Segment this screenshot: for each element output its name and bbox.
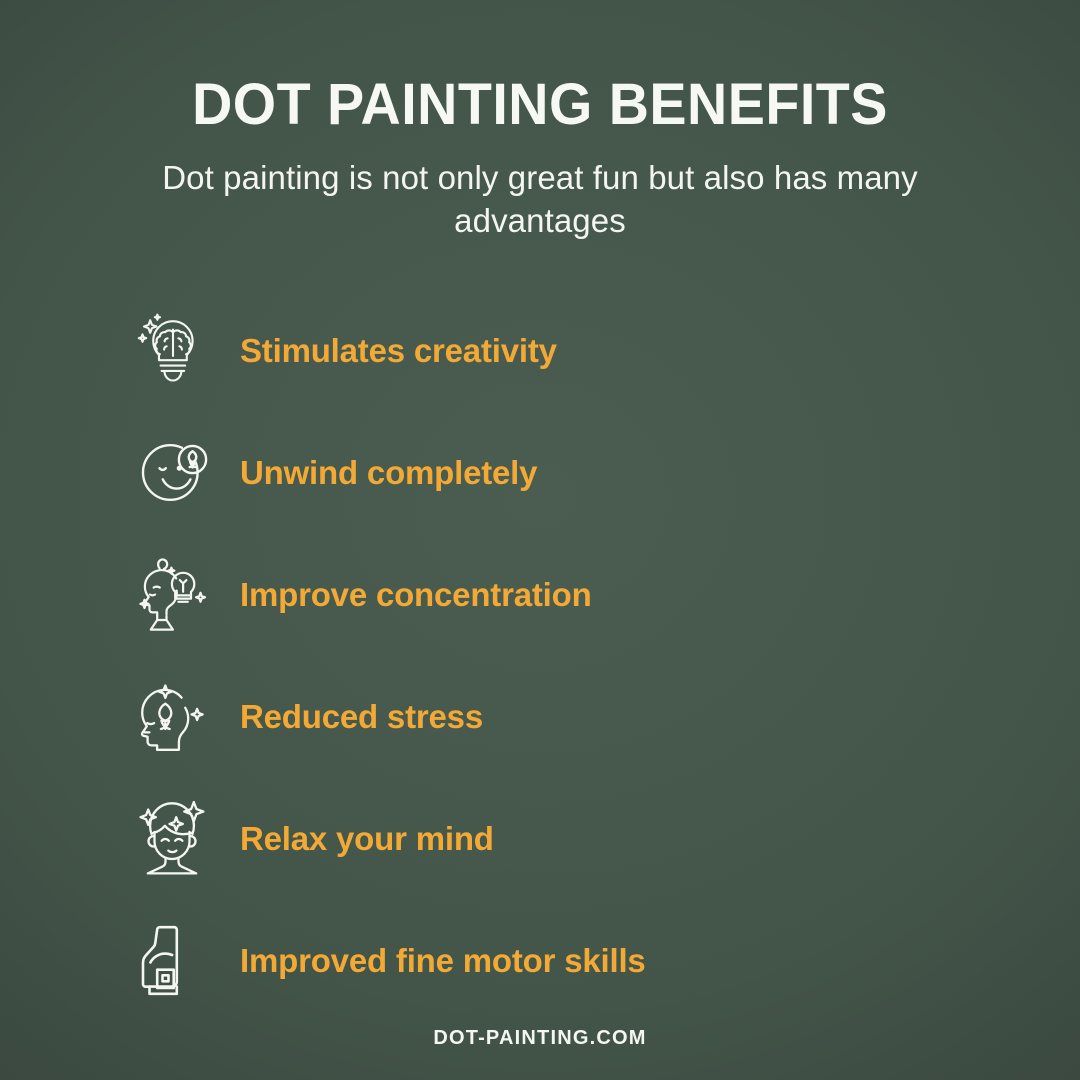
poster-footer: DOT-PAINTING.COM <box>0 1027 1080 1050</box>
website-url: DOT-PAINTING.COM <box>433 1027 646 1049</box>
list-item: Improved fine motor skills <box>136 900 646 1022</box>
benefit-label: Unwind completely <box>240 454 537 492</box>
lightbulb-brain-icon <box>136 311 212 391</box>
poster-header: DOT PAINTING BENEFITS Dot painting is no… <box>0 0 1080 242</box>
list-item: Improve concentration <box>136 534 592 656</box>
list-item: Unwind completely <box>136 412 537 534</box>
relaxed-face-stars-icon <box>136 799 212 879</box>
infographic-poster: DOT PAINTING BENEFITS Dot painting is no… <box>0 0 1080 1080</box>
smiley-flower-icon <box>136 433 212 513</box>
page-title: DOT PAINTING BENEFITS <box>22 74 1059 136</box>
benefit-label: Improved fine motor skills <box>240 942 646 980</box>
benefits-list: Stimulates creativity Unwind completely <box>0 290 1080 1022</box>
head-lotus-icon <box>136 677 212 757</box>
head-lightbulb-icon <box>136 555 212 635</box>
benefit-label: Reduced stress <box>240 698 483 736</box>
page-subtitle: Dot painting is not only great fun but a… <box>145 156 935 242</box>
list-item: Relax your mind <box>136 778 494 900</box>
list-item: Stimulates creativity <box>136 290 557 412</box>
benefit-label: Improve concentration <box>240 576 592 614</box>
benefit-label: Relax your mind <box>240 820 494 858</box>
list-item: Reduced stress <box>136 656 483 778</box>
benefit-label: Stimulates creativity <box>240 332 557 370</box>
hand-tool-icon <box>136 921 212 1001</box>
